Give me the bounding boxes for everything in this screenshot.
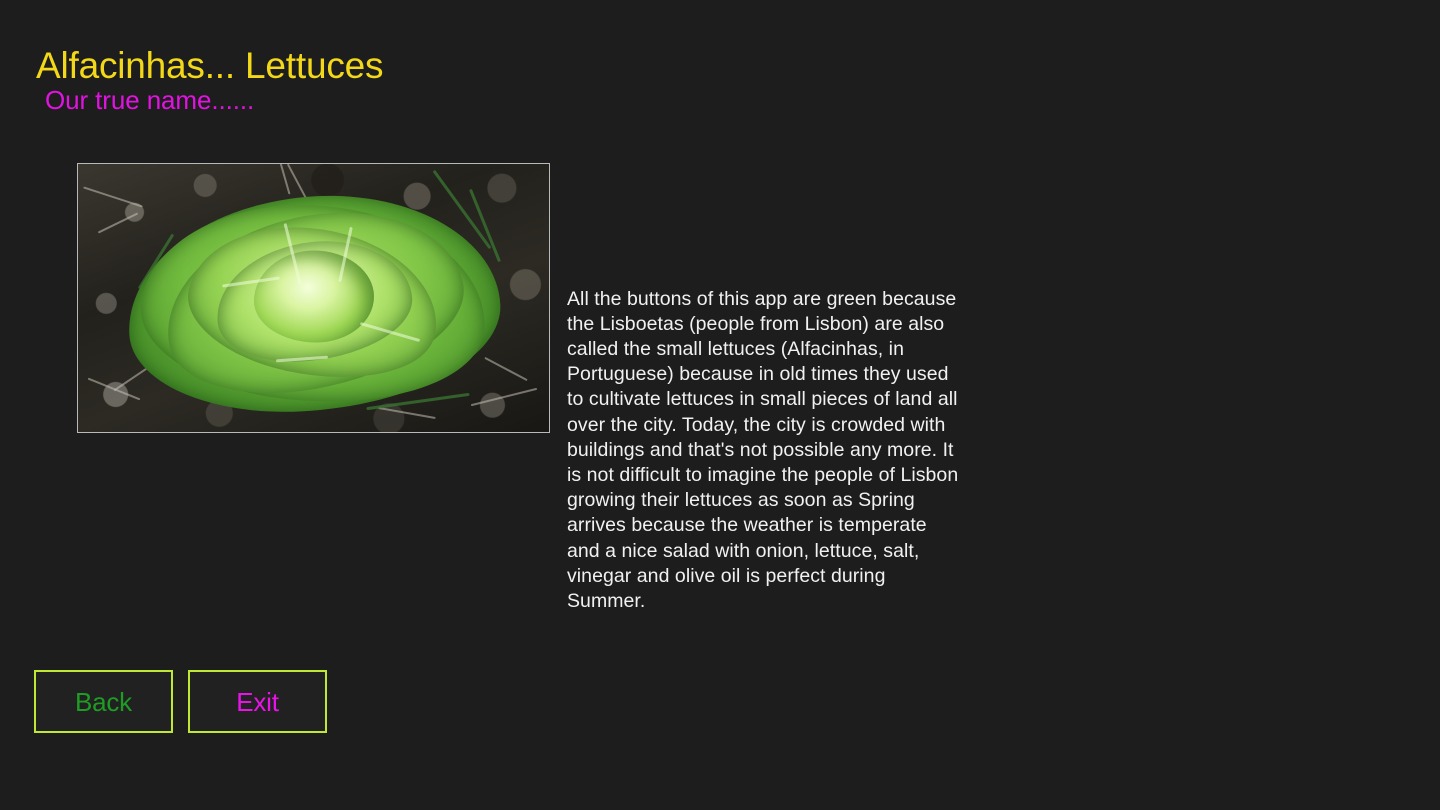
page-subtitle: Our true name...... (45, 84, 254, 116)
app-root: Alfacinhas... Lettuces Our true name....… (0, 0, 1440, 810)
page-title: Alfacinhas... Lettuces (36, 43, 383, 89)
lettuce-core (254, 251, 374, 343)
lettuce-photo-image (78, 164, 549, 432)
back-button-label: Back (75, 687, 132, 717)
lettuce-photo (77, 163, 550, 433)
exit-button-label: Exit (236, 687, 279, 717)
description-paragraph: All the buttons of this app are green be… (567, 287, 959, 615)
button-bar: Back Exit (34, 670, 327, 733)
back-button[interactable]: Back (34, 670, 173, 733)
lettuce-plant (124, 191, 504, 416)
exit-button[interactable]: Exit (188, 670, 327, 733)
